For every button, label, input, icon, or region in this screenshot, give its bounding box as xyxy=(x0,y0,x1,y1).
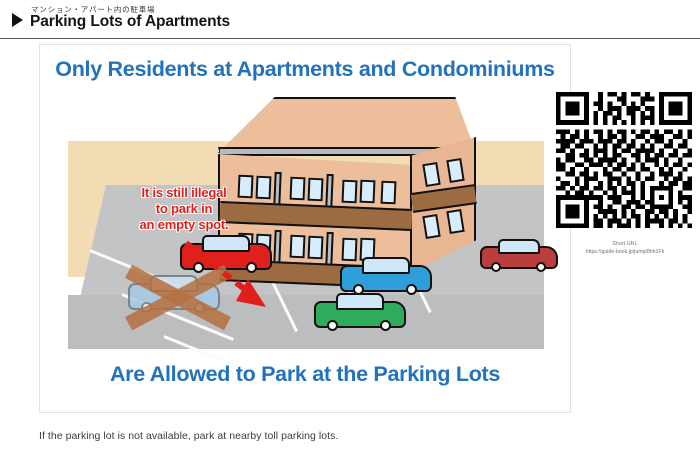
page-title: Parking Lots of Apartments xyxy=(30,13,230,31)
qr-code-icon[interactable] xyxy=(556,92,692,228)
car-cabin xyxy=(336,293,384,310)
building-window xyxy=(308,177,324,201)
building-window xyxy=(342,179,358,203)
page-header: マンション・アパート内の駐車場 Parking Lots of Apartmen… xyxy=(0,0,700,38)
building-window xyxy=(290,235,306,259)
building-window xyxy=(290,177,306,201)
car-wheel xyxy=(380,320,391,331)
building-pillar xyxy=(273,172,281,206)
green-car xyxy=(314,293,406,333)
qr-block: Short URL https://guide-book.jp/jump/8hh… xyxy=(556,92,694,256)
car-wheel xyxy=(491,262,501,272)
warning-line-3: an empty spot. xyxy=(116,217,252,233)
building-window xyxy=(308,235,324,259)
building-roof xyxy=(218,97,476,153)
poster-heading-bottom: Are Allowed to Park at the Parking Lots xyxy=(40,362,570,387)
car-cabin xyxy=(362,257,410,274)
poster-card: Only Residents at Apartments and Condomi… xyxy=(39,44,571,413)
play-triangle-icon xyxy=(12,13,23,27)
warning-text: It is still illegal to park in an empty … xyxy=(116,185,252,233)
parking-illustration: It is still illegal to park in an empty … xyxy=(68,97,544,349)
building-pillar xyxy=(325,232,333,266)
building-window xyxy=(381,181,397,205)
page-root: マンション・アパート内の駐車場 Parking Lots of Apartmen… xyxy=(0,0,700,454)
maroon-car xyxy=(480,239,558,275)
building-pillar xyxy=(325,174,333,208)
blue-car xyxy=(340,257,432,297)
car-wheel xyxy=(406,284,417,295)
warning-line-2: to park in xyxy=(116,201,252,217)
car-wheel xyxy=(327,320,338,331)
header-divider xyxy=(0,38,700,39)
qr-url-text: https://guide-book.jp/jump/8hh1Fk xyxy=(556,248,694,256)
footer-caption: If the parking lot is not available, par… xyxy=(39,430,338,442)
car-wheel xyxy=(536,262,546,272)
poster-heading-top: Only Residents at Apartments and Condomi… xyxy=(40,57,570,82)
warning-arrow-icon xyxy=(180,237,276,313)
warning-line-1: It is still illegal xyxy=(116,185,252,201)
building-window xyxy=(256,175,272,199)
qr-label: Short URL xyxy=(556,240,694,248)
car-cabin xyxy=(498,239,540,254)
building-window xyxy=(360,180,376,204)
